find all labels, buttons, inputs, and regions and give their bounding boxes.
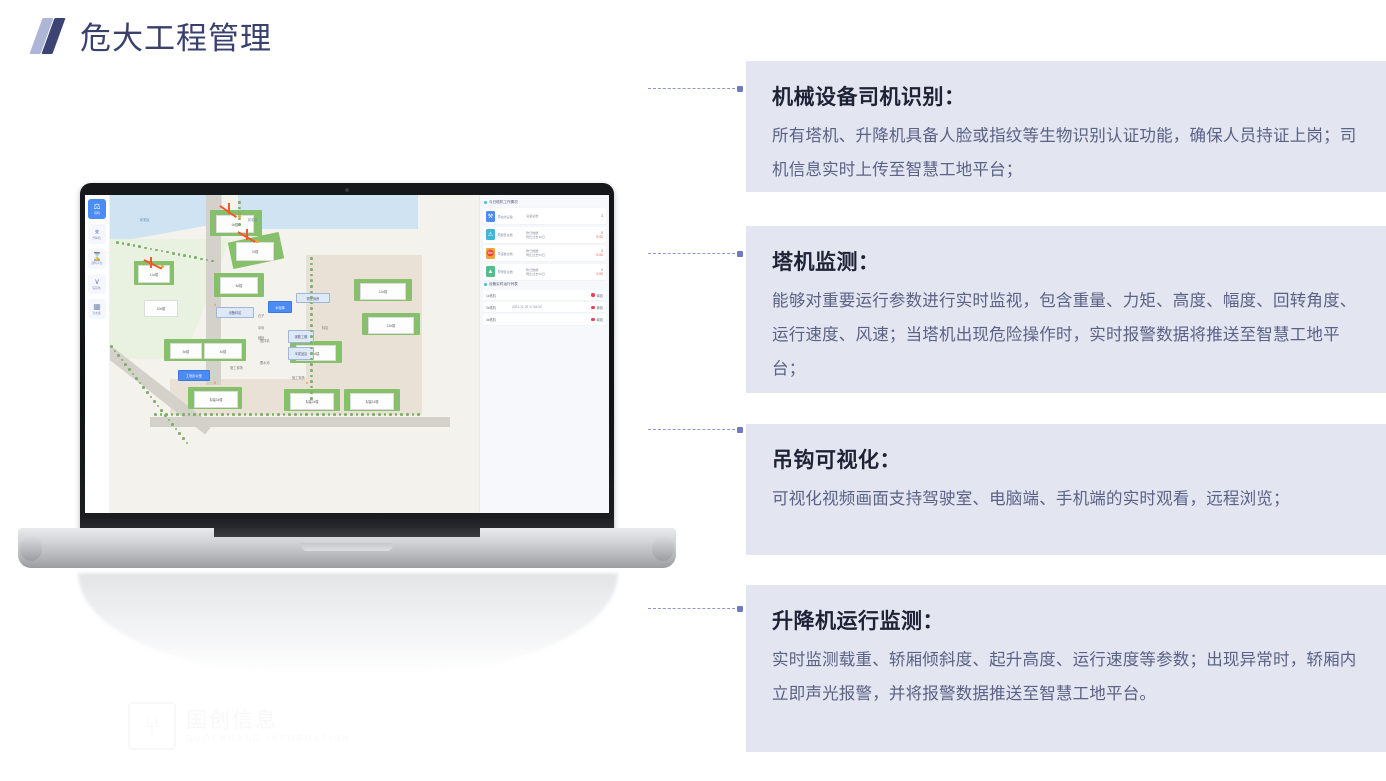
stat-values: 00.00 — [585, 268, 603, 276]
laptop-screen: ⚖ 塔机 ⌆ 升降机 ⌛ 卸料平台 ∨ 深基坑 — [85, 195, 609, 513]
sidebar-item-label: 卸料平台 — [91, 262, 102, 265]
stat-trend-value: 0.00 — [585, 272, 603, 276]
connector-line-3 — [648, 429, 740, 431]
formwork-icon: ▦ — [93, 303, 101, 311]
map-building[interactable]: 拟建1#楼 — [350, 393, 394, 410]
tree-icon — [238, 201, 241, 204]
stat-label: 报警总数 — [500, 233, 512, 237]
map-zone-label: 中砂 — [258, 325, 264, 330]
stat-secondary-labels: 设备总数 — [526, 214, 585, 218]
tree-icon — [310, 324, 313, 327]
tree-icon — [310, 291, 313, 294]
watermark-en-text: GUOCHUANG INFORMATION — [186, 734, 351, 743]
map-zone-label: 民宅区 — [140, 217, 150, 222]
tree-icon — [117, 354, 120, 357]
connector-endpoint-icon — [737, 606, 743, 612]
tree-icon — [277, 413, 280, 416]
tree-icon — [160, 409, 163, 412]
stat-sub-label: 同比过去30日 — [526, 272, 585, 276]
sidebar-item-lift[interactable]: ⌆ 升降机 — [88, 224, 106, 244]
laptop-reflection — [78, 573, 618, 673]
stat-primary: 0在线设备 — [498, 214, 526, 219]
map-building[interactable]: 5#楼 — [170, 343, 202, 359]
construction-site-map[interactable]: 11#楼10#楼9#楼7#楼8#楼5#楼4#楼拟建3#楼3#楼拟建2#楼拟建1#… — [110, 195, 479, 513]
device-timestamp: 2021-12-29 17:54:33 — [512, 305, 581, 309]
stat-total-value: 3 — [585, 214, 603, 218]
tree-icon — [164, 414, 167, 417]
tree-icon — [333, 413, 336, 416]
tree-icon — [310, 268, 313, 271]
card-heading: 塔机监测： — [772, 246, 1360, 276]
laptop-keyboard — [214, 528, 480, 537]
tree-icon — [344, 413, 347, 416]
tree-icon — [310, 380, 313, 383]
device-name: 3#塔机 — [486, 305, 512, 310]
crane-icon: ⚒ — [486, 211, 495, 222]
tree-icon — [182, 413, 185, 416]
status-dot-icon — [591, 318, 594, 321]
status-dot-icon — [591, 293, 594, 296]
feature-card-lift-monitoring: 升降机运行监测： 实时监测载重、轿厢倾斜度、起升高度、运行速度等参数；出现异常时… — [746, 585, 1386, 752]
sidebar-item-crane[interactable]: ⚖ 塔机 — [88, 199, 106, 219]
tree-icon — [150, 396, 153, 399]
map-zone-label: 石子 — [258, 313, 264, 318]
tree-icon — [328, 413, 331, 416]
card-heading: 机械设备司机识别： — [772, 81, 1360, 111]
tree-icon — [178, 253, 181, 256]
stat-secondary-labels: 昨日数据同比过去30日 — [526, 268, 585, 276]
webcam-icon — [345, 188, 349, 192]
sidebar-item-platform[interactable]: ⌛ 卸料平台 — [88, 249, 106, 269]
device-row[interactable]: 4#塔机离线 — [483, 314, 606, 324]
stat-trend-value: 0.00 — [585, 253, 603, 257]
tree-icon — [146, 391, 149, 394]
stats-list: ⚒0在线设备设备总数3⚠0报警总数昨日数据同比过去30日00.00⛔0违章总数昨… — [483, 208, 606, 280]
stat-row[interactable]: ⚒0在线设备设备总数3 — [483, 208, 606, 224]
tree-icon — [154, 413, 157, 416]
page-title: 危大工程管理 — [36, 13, 272, 58]
tree-icon — [142, 386, 145, 389]
card-body: 可视化视频画面支持驾驶室、电脑端、手机端的实时观看，远程浏览； — [772, 482, 1360, 516]
device-row[interactable]: 1#塔机离线 — [483, 290, 606, 300]
stat-sub-label: 同比过去30日 — [526, 253, 585, 257]
map-building[interactable]: 拟建2#楼 — [290, 393, 334, 410]
tree-icon — [178, 432, 181, 435]
laptop-base — [18, 528, 676, 568]
tree-icon — [406, 413, 409, 416]
map-building[interactable]: 12#楼 — [360, 283, 406, 300]
platform-icon: ⌛ — [92, 253, 102, 261]
tree-icon — [310, 285, 313, 288]
tree-icon — [310, 369, 313, 372]
device-status: 离线 — [581, 317, 603, 322]
stat-row[interactable]: ⚠0报警总数昨日数据同比过去30日00.00 — [483, 227, 606, 243]
device-status: 离线 — [581, 305, 603, 310]
feature-card-hook-visualization: 吊钩可视化： 可视化视频画面支持驾驶室、电脑端、手机端的实时观看，远程浏览； — [746, 424, 1386, 555]
tree-icon — [310, 397, 313, 400]
map-facility-label[interactable]: 设备料区 — [216, 307, 254, 318]
sidebar-item-formwork[interactable]: ▦ 高支模 — [88, 299, 106, 319]
tree-icon — [361, 413, 364, 416]
tree-icon — [310, 363, 313, 366]
tree-icon — [288, 413, 291, 416]
tree-icon — [412, 413, 415, 416]
tree-icon — [294, 413, 297, 416]
panel-section-header: 设备实时运行列表 — [484, 282, 606, 287]
panel-section-title: 设备实时运行列表 — [489, 282, 518, 287]
tree-icon — [310, 347, 313, 350]
tree-icon — [389, 413, 392, 416]
device-row[interactable]: 3#塔机2021-12-29 17:54:33离线 — [483, 302, 606, 312]
violation-icon: ⛔ — [486, 248, 495, 259]
status-dot-icon — [591, 306, 594, 309]
tree-icon — [238, 223, 241, 226]
stat-primary: 0违章总数 — [498, 251, 526, 256]
map-building[interactable]: 7#楼 — [236, 242, 274, 261]
stat-row[interactable]: ⛔0违章总数昨日数据同比过去30日00.00 — [483, 245, 606, 261]
card-body: 实时监测载重、轿厢倾斜度、起升高度、运行速度等参数；出现异常时，轿厢内立即声光报… — [772, 643, 1360, 711]
alarm-icon: ⚠ — [486, 229, 495, 240]
bullet-dot-icon — [484, 201, 487, 204]
laptop-foot — [652, 536, 674, 561]
tree-icon — [135, 377, 138, 380]
card-heading: 吊钩可视化： — [772, 444, 1360, 474]
stat-trend-value: 0.00 — [585, 235, 603, 239]
tree-icon — [238, 413, 241, 416]
stat-secondary-labels: 昨日数据同比过去30日 — [526, 249, 585, 257]
tree-icon — [417, 413, 420, 416]
tree-icon — [122, 242, 125, 245]
tree-icon — [310, 391, 313, 394]
title-accent-mark — [36, 18, 66, 54]
stat-values: 00.00 — [585, 249, 603, 257]
tree-icon — [221, 413, 224, 416]
tree-icon — [310, 313, 313, 316]
tree-icon — [310, 341, 313, 344]
stat-label: 违章总数 — [500, 252, 512, 256]
map-building[interactable]: 8#楼 — [220, 277, 258, 294]
connector-line-1 — [648, 88, 740, 90]
device-name: 4#塔机 — [486, 317, 512, 322]
stat-primary: 0预警总数 — [498, 269, 526, 274]
tree-icon — [244, 413, 247, 416]
tree-icon — [356, 413, 359, 416]
map-water-zone — [238, 195, 418, 229]
map-facility-label[interactable]: 工地办公室 — [178, 370, 210, 381]
stat-primary: 0报警总数 — [498, 232, 526, 237]
map-zone-label: 细砂 — [258, 335, 264, 340]
tree-icon — [300, 413, 303, 416]
bullet-dot-icon — [484, 283, 487, 286]
smart-site-app: ⚖ 塔机 ⌆ 升降机 ⌛ 卸料平台 ∨ 深基坑 — [85, 195, 609, 513]
device-status: 离线 — [581, 293, 603, 298]
stat-row[interactable]: ▲0预警总数昨日数据同比过去30日00.00 — [483, 264, 606, 280]
tree-icon — [172, 252, 175, 255]
stat-secondary-labels: 昨日数据同比过去30日 — [526, 231, 585, 239]
tree-icon — [322, 413, 325, 416]
stat-values: 00.00 — [585, 231, 603, 239]
card-body: 所有塔机、升降机具备人脸或指纹等生物识别认证功能，确保人员持证上岗；司机信息实时… — [772, 119, 1360, 187]
tree-icon — [238, 207, 241, 210]
map-facility-label[interactable]: 物业用房 — [296, 293, 330, 303]
tree-icon — [400, 413, 403, 416]
tree-icon — [153, 400, 156, 403]
hexagon-g-logo-icon: ⑂ — [128, 702, 176, 750]
panel-section-title: 今日塔机工作情况 — [489, 200, 518, 205]
stat-values: 3 — [585, 214, 603, 218]
map-building[interactable]: 4#楼 — [204, 343, 242, 359]
tree-icon — [310, 319, 313, 322]
device-list: 1#塔机离线3#塔机2021-12-29 17:54:33离线4#塔机离线 — [483, 290, 606, 325]
tree-icon — [110, 345, 113, 348]
tree-icon — [350, 413, 353, 416]
tree-icon — [272, 413, 275, 416]
map-zone-label: 料区 — [322, 325, 328, 330]
tree-icon — [310, 257, 313, 260]
card-body: 能够对重要运行参数进行实时监视，包含重量、力矩、高度、幅度、回转角度、运行速度、… — [772, 284, 1360, 386]
card-heading: 升降机运行监测： — [772, 605, 1360, 635]
connector-endpoint-icon — [737, 251, 743, 257]
laptop-mockup: ⚖ 塔机 ⌆ 升降机 ⌛ 卸料平台 ∨ 深基坑 — [18, 183, 676, 578]
stat-sub-label: 设备总数 — [526, 214, 585, 218]
tree-icon — [128, 368, 131, 371]
connector-endpoint-icon — [737, 86, 743, 92]
map-building[interactable]: 11#楼 — [138, 265, 170, 283]
watermark: ⑂ 国创信息 GUOCHUANG INFORMATION — [128, 700, 398, 752]
tree-icon — [194, 256, 197, 259]
device-status-text: 离线 — [597, 293, 603, 298]
laptop-lid: ⚖ 塔机 ⌆ 升降机 ⌛ 卸料平台 ∨ 深基坑 — [80, 183, 614, 533]
sidebar-item-label: 升降机 — [93, 237, 101, 240]
warning-icon: ▲ — [486, 266, 495, 277]
tree-icon — [210, 413, 213, 416]
stats-panel: 今日塔机工作情况 ⚒0在线设备设备总数3⚠0报警总数昨日数据同比过去30日00.… — [479, 195, 609, 513]
tree-icon — [316, 413, 319, 416]
map-building[interactable]: 10#楼 — [144, 300, 178, 317]
tree-icon — [232, 413, 235, 416]
tree-icon — [310, 375, 313, 378]
panel-section-header: 今日塔机工作情况 — [484, 200, 606, 205]
tree-icon — [266, 413, 269, 416]
tree-icon — [305, 413, 308, 416]
connector-endpoint-icon — [737, 427, 743, 433]
map-road — [150, 417, 450, 427]
tree-icon — [310, 352, 313, 355]
tree-icon — [193, 413, 196, 416]
watermark-cn-text: 国创信息 — [186, 710, 351, 732]
tree-icon — [372, 413, 375, 416]
tree-icon — [378, 413, 381, 416]
tree-icon — [127, 243, 130, 246]
lift-icon: ⌆ — [94, 228, 101, 236]
laptop-trackpad — [301, 543, 393, 551]
sidebar-item-label: 高支模 — [93, 312, 101, 315]
tree-icon — [171, 423, 174, 426]
tree-icon — [160, 413, 163, 416]
feature-card-tower-crane-monitoring: 塔机监测： 能够对重要运行参数进行实时监视，包含重量、力矩、高度、幅度、回转角度… — [746, 226, 1386, 393]
tree-icon — [310, 263, 313, 266]
tree-icon — [175, 428, 178, 431]
sidebar-item-label: 塔机 — [94, 212, 100, 215]
tree-icon — [157, 405, 160, 408]
map-building[interactable]: 拟建3#楼 — [194, 391, 238, 408]
tree-icon — [204, 413, 207, 416]
stat-sub-label: 同比过去30日 — [526, 235, 585, 239]
tree-icon — [310, 279, 313, 282]
tree-icon — [138, 245, 141, 248]
map-zone-label: 施工现场 — [292, 375, 305, 380]
map-building[interactable]: 13#楼 — [368, 317, 414, 334]
tree-icon — [310, 296, 313, 299]
sidebar-item-pit[interactable]: ∨ 深基坑 — [88, 274, 106, 294]
pit-icon: ∨ — [94, 278, 100, 286]
page-title-text: 危大工程管理 — [80, 13, 272, 58]
tree-icon — [200, 258, 203, 261]
laptop-foot — [20, 536, 42, 561]
feature-card-driver-recognition: 机械设备司机识别： 所有塔机、升降机具备人脸或指纹等生物识别认证功能，确保人员持… — [746, 61, 1386, 192]
tree-icon — [144, 247, 147, 250]
device-status-text: 离线 — [597, 305, 603, 310]
tree-icon — [186, 442, 189, 445]
connector-line-2 — [648, 253, 740, 255]
device-status-text: 离线 — [597, 317, 603, 322]
tree-icon — [310, 335, 313, 338]
tree-icon — [249, 413, 252, 416]
tree-icon — [216, 413, 219, 416]
device-name: 1#塔机 — [486, 293, 512, 298]
stat-label: 在线设备 — [500, 215, 512, 219]
tree-icon — [310, 307, 313, 310]
map-facility-label[interactable]: 水泥库 — [268, 301, 292, 313]
tree-icon — [124, 363, 127, 366]
connector-line-4 — [648, 608, 740, 610]
tree-icon — [182, 437, 185, 440]
map-zone-label: 蓄水池 — [260, 360, 270, 365]
tree-icon — [188, 413, 191, 416]
map-zone-label: 民宅区 — [248, 217, 258, 222]
tree-icon — [183, 254, 186, 257]
tree-icon — [176, 413, 179, 416]
tree-icon — [384, 413, 387, 416]
map-zone-label: 施工现场 — [230, 365, 243, 370]
stat-label: 预警总数 — [500, 270, 512, 274]
crane-icon: ⚖ — [93, 203, 100, 211]
app-sidebar: ⚖ 塔机 ⌆ 升降机 ⌛ 卸料平台 ∨ 深基坑 — [85, 195, 110, 513]
tree-icon — [116, 241, 119, 244]
tree-icon — [260, 413, 263, 416]
sidebar-item-label: 深基坑 — [93, 287, 101, 290]
